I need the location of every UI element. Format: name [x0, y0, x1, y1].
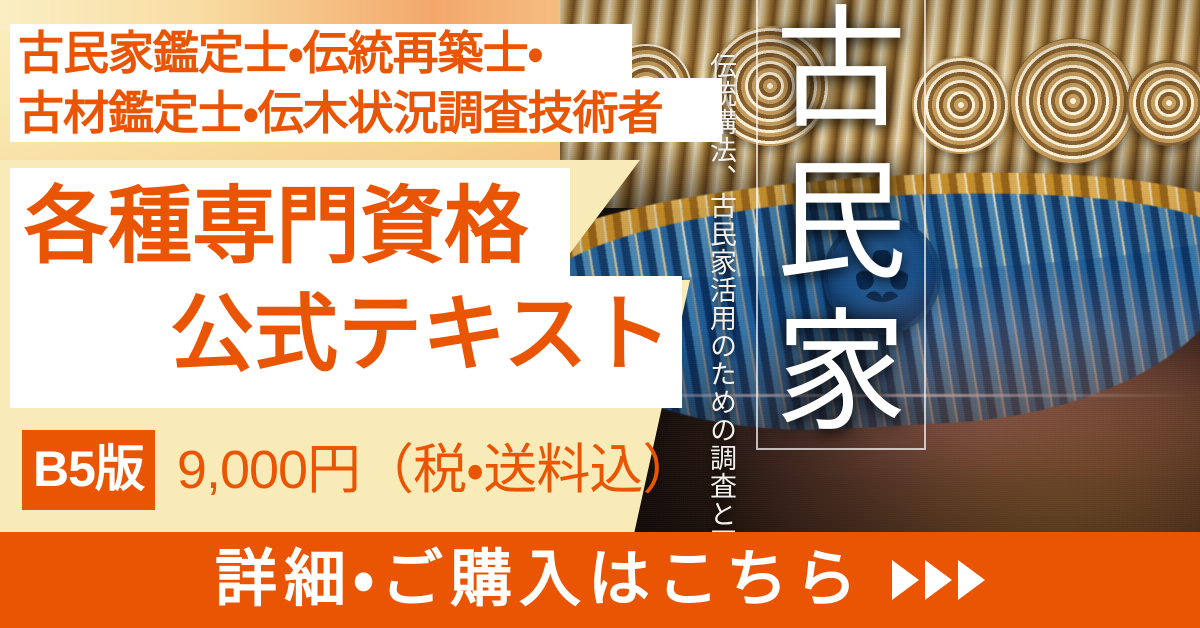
format-badge: B5版 [22, 430, 155, 510]
book-cover-title-char: 家 [775, 311, 907, 438]
chevron-right-icon [925, 560, 952, 600]
headline-line-2: 公式テキスト [170, 292, 671, 376]
qualifications-line-2: 古材鑑定士・伝木状況調査技術者 [18, 90, 738, 136]
qualifications-line-1: 古民家鑑定士・伝統再築士・ [18, 30, 738, 76]
book-cover-title: 古 民 家 [768, 8, 914, 438]
chevron-right-icon [958, 560, 985, 600]
cta-bar[interactable]: 詳細・ご購入はこちら [0, 532, 1200, 628]
price-row: B5版 9,000円（税・送料込） [22, 430, 695, 510]
book-cover-title-char: 古 [775, 8, 907, 135]
cta-label: 詳細・ご購入はこちら [215, 549, 864, 611]
chevron-right-icon [892, 560, 919, 600]
headline-line-1: 各種専門資格 [24, 184, 528, 268]
cta-arrows [892, 560, 985, 600]
book-cover-title-char: 民 [775, 160, 907, 287]
promo-banner[interactable]: 古 民 家 伝統構法、古民家活用のための調査と再生の 古民家鑑定士・伝統再築士・… [0, 0, 1200, 628]
price-label: 9,000円（税・送料込） [177, 443, 696, 497]
